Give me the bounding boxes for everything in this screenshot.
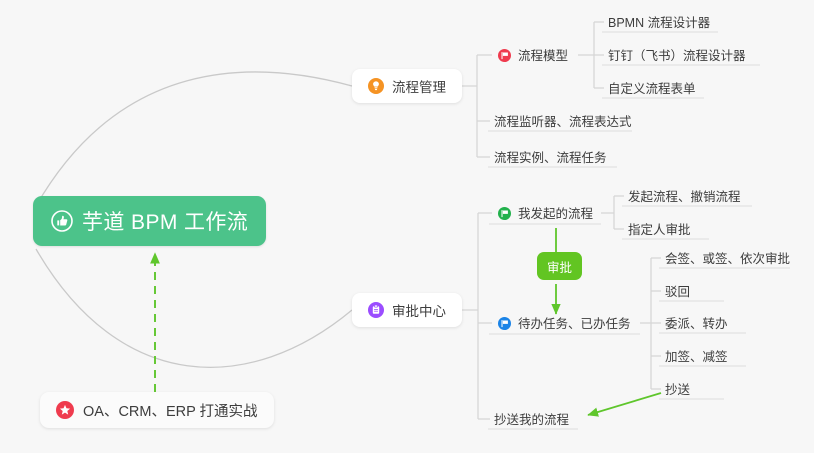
thumbs-up-icon xyxy=(51,210,73,232)
node-assignee-approval[interactable]: 指定人审批 xyxy=(622,218,697,240)
branch-label-process-management: 流程管理 xyxy=(392,76,446,96)
integration-note-node[interactable]: OA、CRM、ERP 打通实战 xyxy=(40,392,274,428)
node-carbon-copy[interactable]: 抄送 xyxy=(659,378,696,400)
clipboard-icon xyxy=(368,302,384,318)
node-reject[interactable]: 驳回 xyxy=(659,280,696,302)
label-cc-to-me: 抄送我的流程 xyxy=(494,414,569,427)
wire-root-to-process-management xyxy=(36,72,352,206)
node-countersign[interactable]: 会签、或签、依次审批 xyxy=(659,247,796,269)
label-todo-done-tasks: 待办任务、已办任务 xyxy=(518,318,631,331)
label-dingtalk-feishu-designer: 钉钉（飞书）流程设计器 xyxy=(608,50,746,63)
label-delegate-transfer: 委派、转办 xyxy=(665,318,728,331)
node-my-initiated[interactable]: 我发起的流程 xyxy=(492,202,599,224)
mindmap-canvas: 芋道 BPM 工作流 流程管理 流程模型 BPMN 流程设计器 钉钉（飞书）流程 xyxy=(0,0,814,453)
branch-label-approval-center: 审批中心 xyxy=(392,300,446,320)
label-start-cancel: 发起流程、撤销流程 xyxy=(628,191,741,204)
lightbulb-icon xyxy=(368,78,384,94)
approval-badge[interactable]: 审批 xyxy=(537,252,582,280)
label-custom-process-form: 自定义流程表单 xyxy=(608,83,696,96)
node-bpmn-designer[interactable]: BPMN 流程设计器 xyxy=(602,11,716,33)
node-custom-process-form[interactable]: 自定义流程表单 xyxy=(602,77,702,99)
branch-node-approval-center[interactable]: 审批中心 xyxy=(352,293,462,327)
arrow-cc-to-ccme xyxy=(588,393,661,415)
label-assignee-approval: 指定人审批 xyxy=(628,224,691,237)
label-bpmn-designer: BPMN 流程设计器 xyxy=(608,17,710,30)
node-cc-to-me[interactable]: 抄送我的流程 xyxy=(488,408,575,430)
node-listener-expression[interactable]: 流程监听器、流程表达式 xyxy=(488,110,638,132)
branch-node-process-management[interactable]: 流程管理 xyxy=(352,69,462,103)
node-instance-task[interactable]: 流程实例、流程任务 xyxy=(488,146,613,168)
flag-icon xyxy=(498,49,511,62)
label-countersign: 会签、或签、依次审批 xyxy=(665,253,790,266)
root-label: 芋道 BPM 工作流 xyxy=(82,206,248,236)
node-start-cancel[interactable]: 发起流程、撤销流程 xyxy=(622,185,747,207)
node-process-model[interactable]: 流程模型 xyxy=(492,44,574,66)
wire-root-to-approval-center xyxy=(36,249,352,367)
label-instance-task: 流程实例、流程任务 xyxy=(494,152,607,165)
label-add-remove-sign: 加签、减签 xyxy=(665,351,728,364)
flag-icon xyxy=(498,207,511,220)
node-add-remove-sign[interactable]: 加签、减签 xyxy=(659,345,734,367)
label-carbon-copy: 抄送 xyxy=(665,384,690,397)
flag-icon xyxy=(498,317,511,330)
label-process-model: 流程模型 xyxy=(518,50,568,63)
integration-note-label: OA、CRM、ERP 打通实战 xyxy=(83,400,258,421)
label-my-initiated: 我发起的流程 xyxy=(518,208,593,221)
node-dingtalk-feishu-designer[interactable]: 钉钉（飞书）流程设计器 xyxy=(602,44,752,66)
star-icon xyxy=(56,401,74,419)
node-delegate-transfer[interactable]: 委派、转办 xyxy=(659,312,734,334)
label-listener-expression: 流程监听器、流程表达式 xyxy=(494,116,632,129)
root-node[interactable]: 芋道 BPM 工作流 xyxy=(33,196,266,246)
approval-badge-label: 审批 xyxy=(547,257,572,276)
label-reject: 驳回 xyxy=(665,286,690,299)
node-todo-done-tasks[interactable]: 待办任务、已办任务 xyxy=(492,312,637,334)
